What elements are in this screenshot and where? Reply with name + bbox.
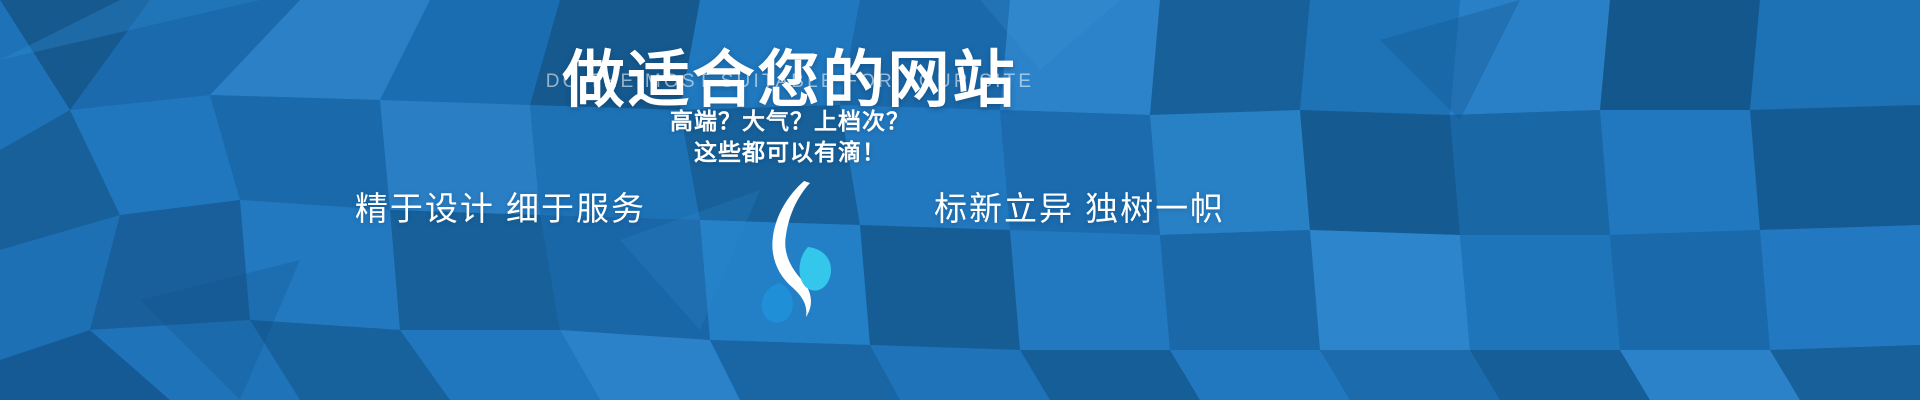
slogan-right: 标新立异 独树一帜 [934, 192, 1225, 225]
tagline-line-2: 这些都可以有滴！ [0, 137, 1580, 168]
leaf-swan-logo-icon [742, 175, 838, 325]
slogan-left: 精于设计 细于服务 [355, 192, 646, 225]
tagline-line-1: 高端？大气？上档次？ [0, 106, 1580, 137]
hero-banner: 做适合您的网站 DO THE MOST SUITABLE FOR YOUR SI… [0, 0, 1920, 400]
subtitle-english: DO THE MOST SUITABLE FOR YOUR SITE [0, 72, 1580, 91]
tagline-block: 高端？大气？上档次？ 这些都可以有滴！ [0, 106, 1580, 168]
slogan-row: 精于设计 细于服务 标新立异 独树一帜 [0, 178, 1580, 238]
